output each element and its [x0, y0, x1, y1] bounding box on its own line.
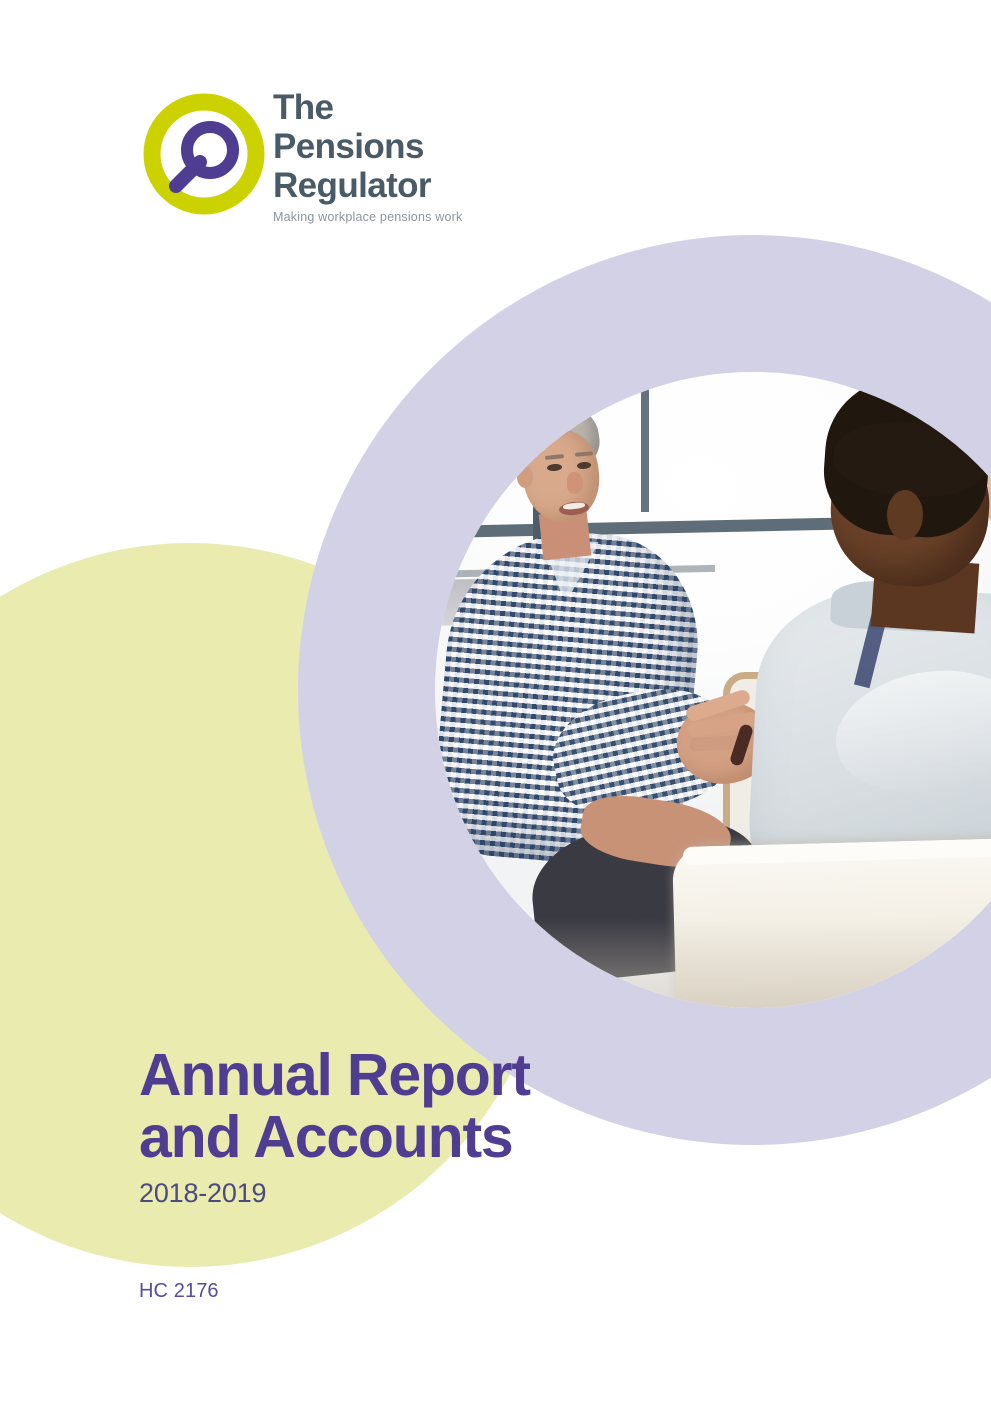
cover-photograph: [435, 372, 991, 1008]
photo-bottom-shading: [435, 918, 991, 1008]
title-line-2: and Accounts: [139, 1106, 699, 1168]
page-title: Annual Report and Accounts: [139, 1044, 699, 1168]
person-left-nose: [567, 472, 583, 494]
photo-scene-background: [435, 372, 991, 1008]
magnifying-glass-in-circle-icon: [140, 90, 268, 218]
cover-title-block: Annual Report and Accounts 2018-2019: [139, 1044, 699, 1208]
report-period: 2018-2019: [139, 1178, 699, 1208]
report-cover-page: The Pensions Regulator Making workplace …: [0, 0, 991, 1401]
logo-line-the: The: [273, 88, 485, 127]
logo-line-pensions: Pensions: [273, 127, 485, 166]
logo-wordmark: The Pensions Regulator Making workplace …: [273, 88, 485, 225]
organisation-logo: The Pensions Regulator Making workplace …: [140, 88, 485, 236]
person-centre-ear: [887, 490, 923, 540]
person-left-ear: [517, 466, 533, 488]
window-mullion-horizontal: [435, 517, 845, 538]
logo-tagline: Making workplace pensions work: [273, 210, 485, 225]
title-line-1: Annual Report: [139, 1042, 530, 1108]
logo-line-regulator: Regulator: [273, 166, 485, 205]
window-mullion-vertical: [641, 372, 649, 512]
command-paper-reference: HC 2176: [139, 1279, 219, 1303]
